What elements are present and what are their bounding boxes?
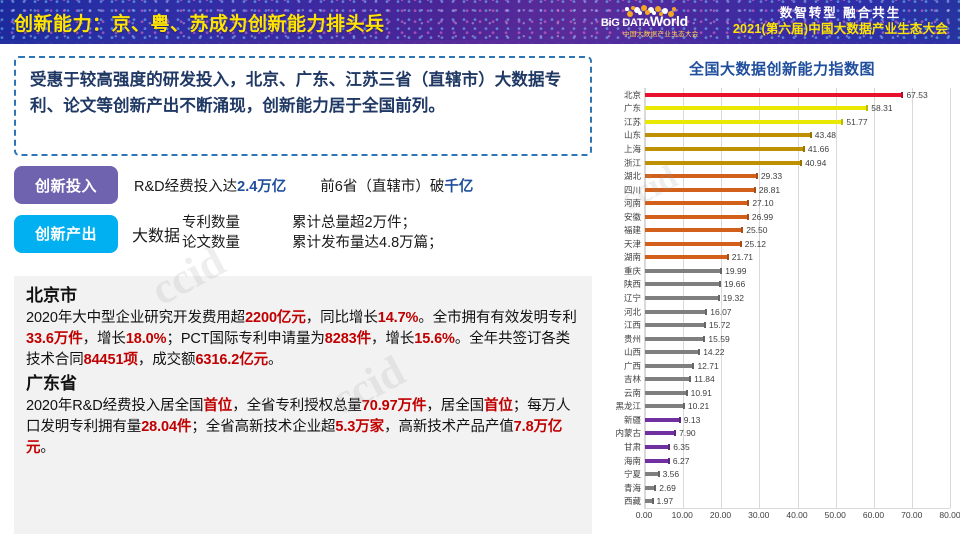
chart-category-label-row: 西藏 bbox=[610, 494, 644, 508]
beijing-run-4: 。全市拥有有效发明专利 bbox=[418, 310, 576, 326]
chart-bar-row[interactable]: 67.53 bbox=[645, 88, 950, 102]
chart-bar[interactable] bbox=[645, 93, 902, 97]
chart-bar[interactable] bbox=[645, 486, 655, 490]
invest-text-mid: 前6省（直辖市）破 bbox=[320, 179, 444, 195]
chart-category-label-row: 贵州 bbox=[610, 332, 644, 346]
chart-bar-row[interactable]: 10.91 bbox=[645, 386, 950, 400]
chart-bar[interactable] bbox=[645, 269, 721, 273]
chart-bar-value-label: 15.72 bbox=[709, 320, 730, 330]
chart-bar-value-label: 11.84 bbox=[694, 374, 715, 384]
chart-plot-area: 北京广东江苏山东上海浙江湖北四川河南安徽福建天津湖南重庆陕西辽宁河北江西贵州山西… bbox=[610, 88, 954, 540]
chart-category-label: 宁夏 bbox=[610, 468, 644, 480]
chart-category-label: 辽宁 bbox=[610, 292, 644, 304]
chart-category-label-row: 广西 bbox=[610, 359, 644, 373]
innovation-output-text: 大数据 专利数量 论文数量 累计总量超2万件； 累计发布量达4.8万篇； bbox=[132, 214, 443, 253]
chart-bar-value-label: 43.48 bbox=[815, 130, 836, 140]
chart-category-label: 云南 bbox=[610, 387, 644, 399]
badge-innovation-investment: 创新投入 bbox=[14, 166, 118, 204]
chart-category-label: 甘肃 bbox=[610, 441, 644, 453]
chart-category-label-row: 天津 bbox=[610, 237, 644, 251]
chart-bar-row[interactable]: 15.72 bbox=[645, 318, 950, 332]
chart-bar[interactable] bbox=[645, 120, 842, 124]
logo-wordmark: BiG DATAWorld bbox=[601, 15, 721, 29]
chart-bar[interactable] bbox=[645, 377, 690, 381]
chart-category-label-row: 湖北 bbox=[610, 169, 644, 183]
chart-bar-row[interactable]: 25.50 bbox=[645, 223, 950, 237]
chart-bar-value-label: 19.32 bbox=[723, 293, 744, 303]
beijing-run-5: 33.6万件 bbox=[26, 331, 83, 347]
chart-x-tick: 70.00 bbox=[901, 510, 922, 520]
chart-bar[interactable] bbox=[645, 147, 804, 151]
beijing-run-10: ，增长 bbox=[371, 331, 414, 347]
innovation-output-row: 创新产出 大数据 专利数量 论文数量 累计总量超2万件； 累计发布量达4.8万篇… bbox=[14, 214, 592, 253]
slogan-line-1: 数智转型 融合共生 bbox=[733, 6, 948, 22]
chart-category-label-row: 山西 bbox=[610, 345, 644, 359]
chart-bar-row[interactable]: 11.84 bbox=[645, 372, 950, 386]
chart-bar-row[interactable]: 51.77 bbox=[645, 115, 950, 129]
chart-bar[interactable] bbox=[645, 282, 720, 286]
chart-x-tick: 10.00 bbox=[672, 510, 693, 520]
guangdong-run-8: ；全省高新技术企业超 bbox=[191, 419, 335, 435]
chart-category-label: 重庆 bbox=[610, 265, 644, 277]
chart-category-label: 湖南 bbox=[610, 251, 644, 263]
chart-bar[interactable] bbox=[645, 364, 693, 368]
chart-bar[interactable] bbox=[645, 391, 687, 395]
chart-bar[interactable] bbox=[645, 106, 867, 110]
chart-category-label: 青海 bbox=[610, 482, 644, 494]
chart-category-label-row: 浙江 bbox=[610, 156, 644, 170]
beijing-run-13: 84451项 bbox=[84, 352, 138, 368]
output-item-stack: 专利数量 论文数量 bbox=[182, 214, 240, 253]
chart-category-label-row: 湖南 bbox=[610, 251, 644, 265]
beijing-run-16: 。 bbox=[268, 352, 282, 368]
chart-x-tick: 60.00 bbox=[863, 510, 884, 520]
chart-title: 全国大数据创新能力指数图 bbox=[604, 58, 960, 79]
guangdong-run-4: ，居全国 bbox=[426, 398, 484, 414]
chart-bar-value-label: 21.71 bbox=[732, 252, 753, 262]
chart-category-label-row: 辽宁 bbox=[610, 291, 644, 305]
beijing-run-14: ，成交额 bbox=[138, 352, 196, 368]
beijing-run-7: 18.0% bbox=[126, 331, 167, 347]
beijing-run-11: 15.6% bbox=[414, 331, 455, 347]
chart-bar-value-label: 15.59 bbox=[708, 334, 729, 344]
beijing-run-9: 8283件 bbox=[325, 331, 371, 347]
chart-bar-value-label: 40.94 bbox=[805, 158, 826, 168]
output-prefix: 大数据 bbox=[132, 222, 180, 246]
chart-bar-row[interactable]: 2.69 bbox=[645, 481, 950, 495]
chart-category-label: 北京 bbox=[610, 89, 644, 101]
chart-bar-row[interactable]: 21.71 bbox=[645, 251, 950, 265]
chart-bars-area: 67.5358.3151.7743.4841.6640.9429.3328.81… bbox=[644, 88, 950, 508]
chart-x-tick: 0.00 bbox=[636, 510, 653, 520]
chart-bar[interactable] bbox=[645, 255, 728, 259]
invest-value-top6: 千亿 bbox=[444, 179, 473, 195]
chart-bar-value-label: 9.13 bbox=[684, 415, 701, 425]
guangdong-run-7: 28.04件 bbox=[141, 419, 191, 435]
chart-bar-row[interactable]: 19.32 bbox=[645, 291, 950, 305]
chart-bar-row[interactable]: 14.22 bbox=[645, 345, 950, 359]
chart-bar-value-label: 25.50 bbox=[746, 225, 767, 235]
chart-bar-row[interactable]: 58.31 bbox=[645, 102, 950, 116]
innovation-investment-text: R&D经费投入达2.4万亿前6省（直辖市）破千亿 bbox=[134, 175, 473, 196]
chart-bar-row[interactable]: 26.99 bbox=[645, 210, 950, 224]
chart-bar[interactable] bbox=[645, 350, 699, 354]
invest-text-pre: R&D经费投入达 bbox=[134, 179, 237, 195]
chart-category-label-row: 重庆 bbox=[610, 264, 644, 278]
chart-category-label-row: 新疆 bbox=[610, 413, 644, 427]
province-detail-panel: 北京市 2020年大中型企业研究开发费用超2200亿元，同比增长14.7%。全市… bbox=[14, 276, 592, 534]
chart-category-label: 山东 bbox=[610, 129, 644, 141]
chart-category-label: 广西 bbox=[610, 360, 644, 372]
chart-bar-row[interactable]: 41.66 bbox=[645, 142, 950, 156]
chart-bar-value-label: 28.81 bbox=[759, 185, 780, 195]
summary-callout-box: 受惠于较高强度的研发投入，北京、广东、江苏三省（直辖市）大数据专利、论文等创新产… bbox=[14, 56, 592, 156]
chart-category-label: 黑龙江 bbox=[610, 400, 644, 412]
chart-bar[interactable] bbox=[645, 310, 706, 314]
chart-category-label-row: 上海 bbox=[610, 142, 644, 156]
chart-category-label-row: 宁夏 bbox=[610, 467, 644, 481]
chart-bar[interactable] bbox=[645, 161, 801, 165]
chart-bar-value-label: 29.33 bbox=[761, 171, 782, 181]
chart-bar-row[interactable]: 29.33 bbox=[645, 169, 950, 183]
chart-bar-value-label: 1.97 bbox=[657, 496, 674, 506]
chart-category-axis: 北京广东江苏山东上海浙江湖北四川河南安徽福建天津湖南重庆陕西辽宁河北江西贵州山西… bbox=[610, 88, 644, 508]
guangdong-run-10: ，高新技术产品产值 bbox=[384, 419, 514, 435]
guangdong-run-3: 70.97万件 bbox=[362, 398, 427, 414]
chart-x-tick: 80.00 bbox=[939, 510, 960, 520]
chart-category-label: 西藏 bbox=[610, 495, 644, 507]
chart-category-label: 内蒙古 bbox=[610, 427, 644, 439]
chart-category-label: 海南 bbox=[610, 455, 644, 467]
chart-bar-value-label: 7.90 bbox=[679, 428, 696, 438]
chart-bar-value-label: 19.66 bbox=[724, 279, 745, 289]
chart-bar[interactable] bbox=[645, 188, 755, 192]
chart-bar-row[interactable]: 10.21 bbox=[645, 400, 950, 414]
chart-bar-value-label: 6.27 bbox=[673, 456, 690, 466]
chart-category-label-row: 黑龙江 bbox=[610, 400, 644, 414]
chart-category-label: 新疆 bbox=[610, 414, 644, 426]
bigdata-world-logo: BiG DATAWorld 中国大数据产业生态大会 bbox=[601, 4, 721, 40]
chart-panel: 全国大数据创新能力指数图 北京广东江苏山东上海浙江湖北四川河南安徽福建天津湖南重… bbox=[604, 48, 960, 540]
chart-bar[interactable] bbox=[645, 296, 719, 300]
chart-bar-value-label: 67.53 bbox=[906, 90, 927, 100]
chart-bar[interactable] bbox=[645, 445, 669, 449]
chart-bar-row[interactable]: 12.71 bbox=[645, 359, 950, 373]
guangdong-run-2: ，全省专利授权总量 bbox=[232, 398, 362, 414]
beijing-heading: 北京市 bbox=[26, 284, 582, 308]
chart-category-label-row: 北京 bbox=[610, 88, 644, 102]
chart-bar[interactable] bbox=[645, 174, 757, 178]
chart-category-label-row: 四川 bbox=[610, 183, 644, 197]
chart-category-label: 浙江 bbox=[610, 157, 644, 169]
gridline bbox=[950, 88, 951, 508]
output-item-patents: 专利数量 bbox=[182, 214, 240, 234]
chart-category-label: 河南 bbox=[610, 197, 644, 209]
beijing-run-2: ，同比增长 bbox=[306, 310, 378, 326]
chart-bar-value-label: 6.35 bbox=[673, 442, 690, 452]
beijing-run-0: 2020年大中型企业研究开发费用超 bbox=[26, 310, 245, 326]
beijing-run-8: ；PCT国际专利申请量为 bbox=[166, 331, 324, 347]
page-title: 创新能力：京、粤、苏成为创新能力排头兵 bbox=[14, 9, 385, 36]
header-right-group: BiG DATAWorld 中国大数据产业生态大会 数智转型 融合共生 2021… bbox=[601, 4, 952, 40]
chart-bar-value-label: 2.69 bbox=[659, 483, 676, 493]
chart-bar[interactable] bbox=[645, 242, 741, 246]
chart-x-tick: 30.00 bbox=[748, 510, 769, 520]
chart-bar[interactable] bbox=[645, 201, 748, 205]
output-value-patents: 累计总量超2万件； bbox=[292, 214, 443, 234]
chart-bar-value-label: 3.56 bbox=[663, 469, 680, 479]
chart-bar-row[interactable]: 16.07 bbox=[645, 305, 950, 319]
badge-innovation-output: 创新产出 bbox=[14, 215, 118, 253]
chart-category-label-row: 河南 bbox=[610, 196, 644, 210]
chart-bar-value-label: 51.77 bbox=[846, 117, 867, 127]
output-value-papers: 累计发布量达4.8万篇； bbox=[292, 234, 443, 254]
chart-category-label-row: 江西 bbox=[610, 318, 644, 332]
chart-category-label: 陕西 bbox=[610, 278, 644, 290]
chart-bar[interactable] bbox=[645, 133, 811, 137]
chart-bar-row[interactable]: 27.10 bbox=[645, 196, 950, 210]
chart-category-label: 江西 bbox=[610, 319, 644, 331]
chart-x-tick: 20.00 bbox=[710, 510, 731, 520]
output-value-stack: 累计总量超2万件； 累计发布量达4.8万篇； bbox=[292, 214, 443, 253]
beijing-run-6: ，增长 bbox=[83, 331, 126, 347]
chart-category-label-row: 河北 bbox=[610, 305, 644, 319]
chart-category-label-row: 陕西 bbox=[610, 278, 644, 292]
chart-bar-row[interactable]: 6.27 bbox=[645, 454, 950, 468]
chart-category-label-row: 吉林 bbox=[610, 372, 644, 386]
innovation-investment-row: 创新投入 R&D经费投入达2.4万亿前6省（直辖市）破千亿 bbox=[14, 166, 592, 204]
chart-category-label: 上海 bbox=[610, 143, 644, 155]
chart-bar-value-label: 26.99 bbox=[752, 212, 773, 222]
chart-bar-row[interactable]: 1.97 bbox=[645, 494, 950, 508]
chart-bar-row[interactable]: 40.94 bbox=[645, 156, 950, 170]
chart-x-axis-labels: 0.0010.0020.0030.0040.0050.0060.0070.008… bbox=[644, 508, 950, 524]
chart-bar-value-label: 25.12 bbox=[745, 239, 766, 249]
logo-dot bbox=[625, 7, 629, 11]
chart-bar-value-label: 16.07 bbox=[710, 307, 731, 317]
guangdong-run-5: 首位 bbox=[484, 398, 513, 414]
chart-bar-row[interactable]: 28.81 bbox=[645, 183, 950, 197]
summary-callout-text: 受惠于较高强度的研发投入，北京、广东、江苏三省（直辖市）大数据专利、论文等创新产… bbox=[30, 67, 578, 119]
chart-bar[interactable] bbox=[645, 418, 680, 422]
chart-bar-row[interactable]: 19.99 bbox=[645, 264, 950, 278]
chart-category-label-row: 云南 bbox=[610, 386, 644, 400]
chart-bar-row[interactable]: 19.66 bbox=[645, 278, 950, 292]
chart-category-label: 四川 bbox=[610, 184, 644, 196]
guangdong-run-1: 首位 bbox=[203, 398, 232, 414]
slide-root: 创新能力：京、粤、苏成为创新能力排头兵 BiG DATAWorld 中国大数据产… bbox=[0, 0, 960, 540]
chart-bar-row[interactable]: 43.48 bbox=[645, 129, 950, 143]
beijing-run-15: 6316.2亿元 bbox=[195, 352, 268, 368]
chart-bar[interactable] bbox=[645, 431, 675, 435]
output-item-papers: 论文数量 bbox=[182, 234, 240, 254]
chart-bar-value-label: 12.71 bbox=[697, 361, 718, 371]
chart-category-label: 安徽 bbox=[610, 211, 644, 223]
chart-category-label: 湖北 bbox=[610, 170, 644, 182]
chart-category-label-row: 安徽 bbox=[610, 210, 644, 224]
chart-category-label: 广东 bbox=[610, 102, 644, 114]
chart-bar-row[interactable]: 9.13 bbox=[645, 413, 950, 427]
chart-category-label-row: 江苏 bbox=[610, 115, 644, 129]
chart-bar[interactable] bbox=[645, 215, 748, 219]
chart-x-tick: 40.00 bbox=[786, 510, 807, 520]
invest-value-rd: 2.4万亿 bbox=[237, 179, 286, 195]
chart-bar[interactable] bbox=[645, 459, 669, 463]
guangdong-heading: 广东省 bbox=[26, 372, 582, 396]
chart-bar[interactable] bbox=[645, 228, 742, 232]
chart-category-label-row: 甘肃 bbox=[610, 440, 644, 454]
chart-bar-value-label: 41.66 bbox=[808, 144, 829, 154]
chart-bar[interactable] bbox=[645, 472, 659, 476]
chart-category-label: 福建 bbox=[610, 224, 644, 236]
chart-bar-row[interactable]: 7.90 bbox=[645, 427, 950, 441]
chart-x-tick: 50.00 bbox=[825, 510, 846, 520]
chart-bar-value-label: 10.21 bbox=[688, 401, 709, 411]
chart-bar-row[interactable]: 25.12 bbox=[645, 237, 950, 251]
chart-bar-value-label: 10.91 bbox=[691, 388, 712, 398]
chart-category-label-row: 山东 bbox=[610, 129, 644, 143]
slogan-line-2: 2021(第六届)中国大数据产业生态大会 bbox=[733, 22, 948, 38]
logo-world-text: World bbox=[650, 13, 688, 29]
chart-category-label-row: 青海 bbox=[610, 481, 644, 495]
beijing-run-1: 2200亿元 bbox=[245, 310, 306, 326]
guangdong-run-12: 。 bbox=[40, 440, 54, 456]
chart-category-label: 贵州 bbox=[610, 333, 644, 345]
conference-slogan: 数智转型 融合共生 2021(第六届)中国大数据产业生态大会 bbox=[733, 6, 952, 37]
slide-header-band: 创新能力：京、粤、苏成为创新能力排头兵 BiG DATAWorld 中国大数据产… bbox=[0, 0, 960, 44]
logo-dot bbox=[672, 7, 676, 11]
chart-bar-row[interactable]: 6.35 bbox=[645, 440, 950, 454]
beijing-run-3: 14.7% bbox=[378, 310, 419, 326]
chart-category-label-row: 广东 bbox=[610, 102, 644, 116]
chart-bar-row[interactable]: 15.59 bbox=[645, 332, 950, 346]
chart-bar-row[interactable]: 3.56 bbox=[645, 467, 950, 481]
chart-category-label: 江苏 bbox=[610, 116, 644, 128]
guangdong-run-9: 5.3万家 bbox=[335, 419, 384, 435]
chart-category-label: 河北 bbox=[610, 306, 644, 318]
chart-category-label: 天津 bbox=[610, 238, 644, 250]
chart-bar-value-label: 58.31 bbox=[871, 103, 892, 113]
chart-bar[interactable] bbox=[645, 499, 653, 503]
chart-bar[interactable] bbox=[645, 337, 704, 341]
beijing-body-text: 2020年大中型企业研究开发费用超2200亿元，同比增长14.7%。全市拥有有效… bbox=[26, 308, 582, 371]
guangdong-body-text: 2020年R&D经费投入居全国首位，全省专利授权总量70.97万件，居全国首位；… bbox=[26, 396, 582, 459]
chart-bar-value-label: 27.10 bbox=[752, 198, 773, 208]
chart-category-label: 山西 bbox=[610, 346, 644, 358]
chart-bar[interactable] bbox=[645, 323, 705, 327]
chart-category-label: 吉林 bbox=[610, 373, 644, 385]
chart-category-label-row: 福建 bbox=[610, 223, 644, 237]
chart-bar-value-label: 14.22 bbox=[703, 347, 724, 357]
left-content-column: 受惠于较高强度的研发投入，北京、广东、江苏三省（直辖市）大数据专利、论文等创新产… bbox=[0, 48, 604, 540]
chart-category-label-row: 海南 bbox=[610, 454, 644, 468]
guangdong-run-0: 2020年R&D经费投入居全国 bbox=[26, 398, 203, 414]
chart-bar-value-label: 19.99 bbox=[725, 266, 746, 276]
chart-category-label-row: 内蒙古 bbox=[610, 427, 644, 441]
logo-chinese-subtitle: 中国大数据产业生态大会 bbox=[601, 28, 721, 38]
chart-bar[interactable] bbox=[645, 404, 684, 408]
